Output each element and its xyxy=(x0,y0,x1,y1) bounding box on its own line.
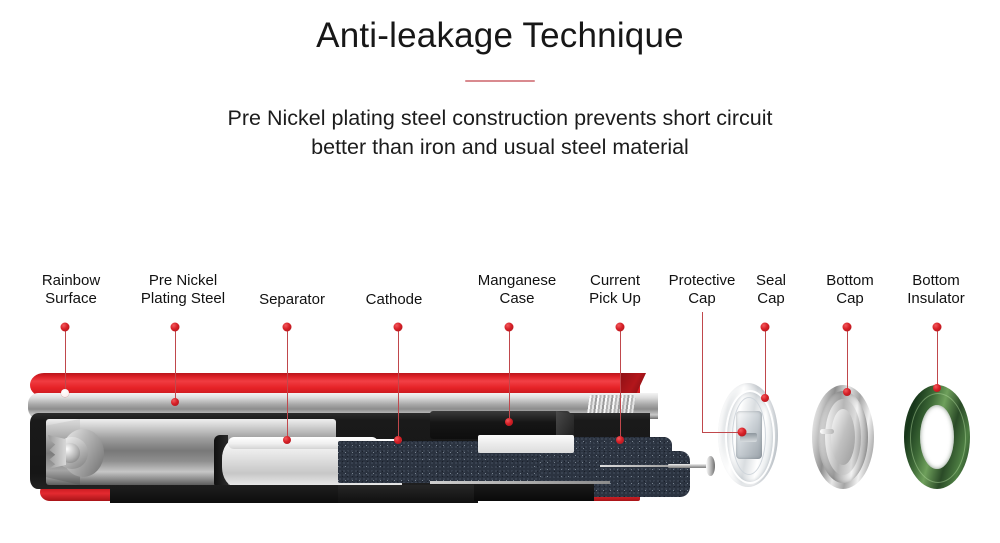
callout-label-line: Cap xyxy=(756,290,786,308)
callout-label-line: Rainbow xyxy=(42,272,100,290)
callout-layer: RainbowSurfacePre NickelPlating SteelSep… xyxy=(0,0,1000,543)
leader-dot xyxy=(843,323,852,332)
leader-dot xyxy=(171,323,180,332)
leader-stem xyxy=(765,327,766,398)
callout-label-line: Pick Up xyxy=(589,290,641,308)
leader-dot xyxy=(505,323,514,332)
callout-label-current-pick-up: CurrentPick Up xyxy=(589,272,641,309)
leader-end-dot xyxy=(843,388,851,396)
callout-label-line: Current xyxy=(589,272,641,290)
leader-stem xyxy=(65,327,66,393)
callout-label-line: Bottom xyxy=(907,272,965,290)
leader-dot xyxy=(761,323,770,332)
leader-stem xyxy=(937,327,938,388)
callout-label-line: Protective xyxy=(669,272,736,290)
callout-label-line: Cap xyxy=(669,290,736,308)
leader-end-dot xyxy=(283,436,291,444)
callout-label-line: Insulator xyxy=(907,290,965,308)
leader-end-dot xyxy=(61,389,69,397)
leader-end-dot xyxy=(394,436,402,444)
callout-label-bottom-insulator: BottomInsulator xyxy=(907,272,965,309)
callout-label-line: Cap xyxy=(826,290,874,308)
leader-dot xyxy=(283,323,292,332)
leader-end-dot xyxy=(505,418,513,426)
callout-label-line: Pre Nickel xyxy=(141,272,225,290)
callout-label-rainbow-surface: RainbowSurface xyxy=(42,272,100,309)
callout-label-line: Seal xyxy=(756,272,786,290)
leader-end-dot xyxy=(171,398,179,406)
leader-dot xyxy=(61,323,70,332)
leader-stem xyxy=(175,327,176,402)
leader-stem xyxy=(398,327,399,440)
leader-end-dot xyxy=(761,394,769,402)
callout-label-seal-cap: SealCap xyxy=(756,272,786,309)
callout-label-line: Separator xyxy=(259,291,325,309)
callout-label-pre-nickel-plating-steel: Pre NickelPlating Steel xyxy=(141,272,225,309)
callout-label-cathode: Cathode xyxy=(366,291,423,309)
leader-end-dot xyxy=(616,436,624,444)
leader-dot xyxy=(738,428,747,437)
callout-label-line: Case xyxy=(478,290,556,308)
leader-stem xyxy=(620,327,621,440)
leader-elbow xyxy=(702,432,742,433)
leader-stem xyxy=(702,312,703,432)
callout-label-manganese-case: ManganeseCase xyxy=(478,272,556,309)
leader-stem xyxy=(509,327,510,422)
leader-dot xyxy=(616,323,625,332)
callout-label-line: Surface xyxy=(42,290,100,308)
callout-label-line: Bottom xyxy=(826,272,874,290)
callout-label-bottom-cap: BottomCap xyxy=(826,272,874,309)
leader-dot xyxy=(394,323,403,332)
leader-end-dot xyxy=(933,384,941,392)
callout-label-line: Cathode xyxy=(366,291,423,309)
leader-dot xyxy=(933,323,942,332)
callout-label-protective-cap: ProtectiveCap xyxy=(669,272,736,309)
callout-label-line: Plating Steel xyxy=(141,290,225,308)
leader-stem xyxy=(287,327,288,440)
callout-label-line: Manganese xyxy=(478,272,556,290)
leader-stem xyxy=(847,327,848,392)
callout-label-separator: Separator xyxy=(259,291,325,309)
